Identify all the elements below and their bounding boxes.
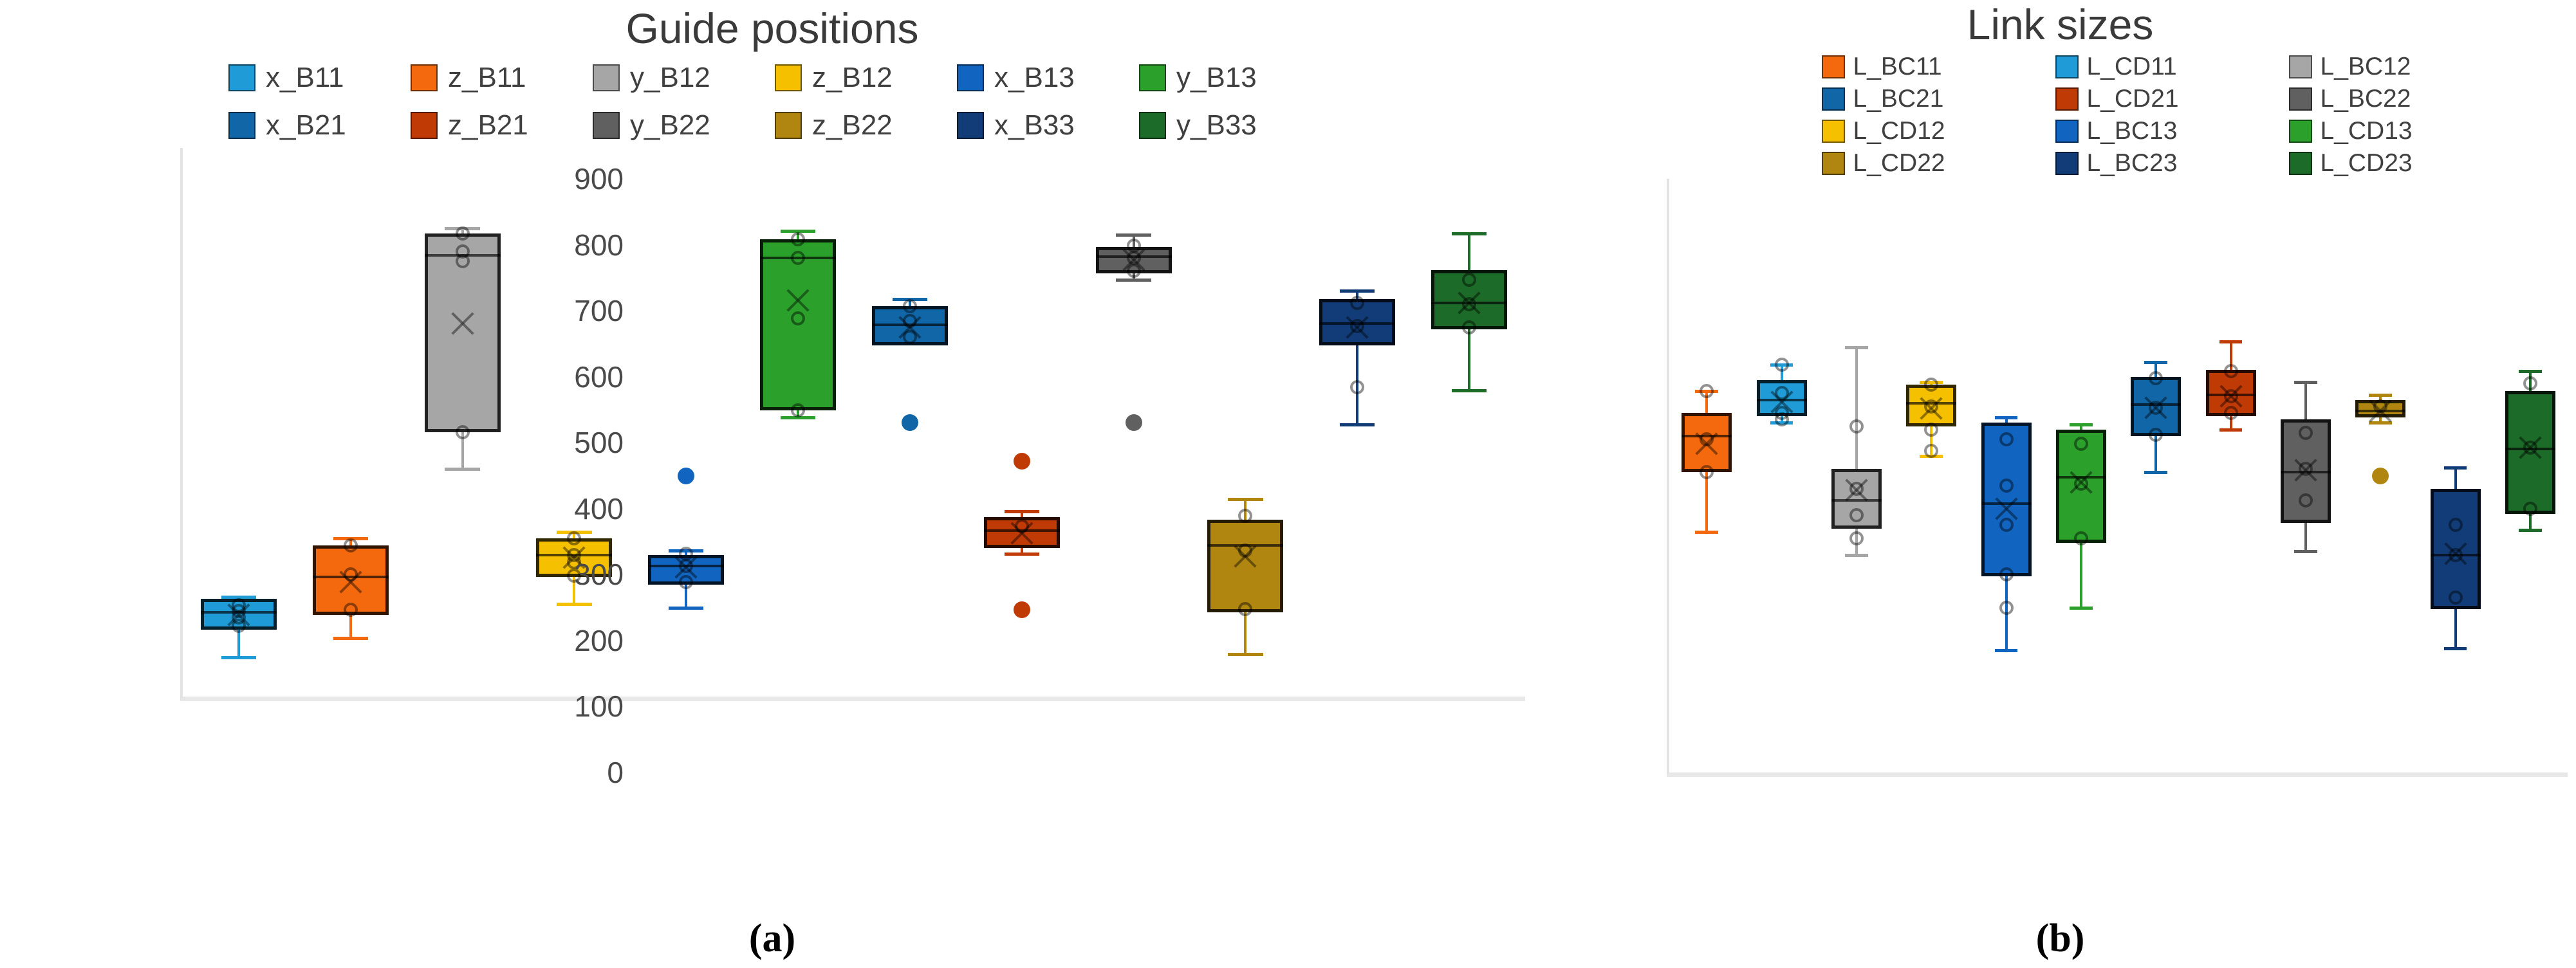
legend-swatch-icon: [2055, 120, 2079, 143]
panel-b-plot-area: [1667, 179, 2568, 777]
legend-swatch-icon: [957, 64, 984, 91]
data-point: [1700, 465, 1714, 479]
panel-b-caption-row: (b): [1544, 916, 2576, 962]
y-axis-tick-label: 800: [574, 228, 624, 262]
data-point: [344, 603, 358, 617]
legend-swatch-icon: [593, 112, 620, 139]
panel-a-plot-area: [180, 148, 1525, 701]
legend-item-l_bc21[interactable]: L_BC21: [1822, 85, 2055, 113]
legend-item-l_bc22[interactable]: L_BC22: [2289, 85, 2523, 113]
legend-item-l_cd12[interactable]: L_CD12: [1822, 117, 2055, 145]
cap-min: [2294, 550, 2317, 553]
cap-max: [1005, 510, 1039, 513]
data-point: [791, 403, 805, 417]
panel-b-legend: L_BC11L_CD11L_BC12L_BC21L_CD21L_BC22L_CD…: [1821, 53, 2523, 178]
legend-item-label: L_CD21: [2087, 85, 2179, 113]
y-axis-tick-label: 0: [607, 755, 624, 790]
box-plot-x_b11[interactable]: [201, 148, 277, 697]
panel-a-caption: (a): [749, 917, 795, 960]
data-point: [2149, 401, 2163, 415]
data-point: [232, 619, 246, 633]
legend-swatch-icon: [593, 64, 620, 91]
data-point: [2373, 399, 2387, 414]
legend-swatch-icon: [1822, 87, 1845, 111]
data-point: [679, 575, 693, 589]
legend-item-x_b13[interactable]: x_B13: [954, 62, 1136, 94]
box-plot-l_bc23[interactable]: [2431, 179, 2481, 772]
cap-max: [2070, 423, 2093, 426]
cap-min: [2219, 428, 2243, 432]
legend-item-z_b12[interactable]: z_B12: [772, 62, 954, 94]
cap-min: [2144, 471, 2167, 474]
legend-item-label: L_BC11: [1853, 53, 1942, 81]
legend-swatch-icon: [2055, 152, 2079, 175]
data-point: [2224, 406, 2238, 420]
whisker-upper: [2304, 382, 2307, 419]
box-plot-l_cd12[interactable]: [1906, 179, 1956, 772]
cap-max: [1452, 232, 1487, 235]
cap-max: [2294, 381, 2317, 384]
legend-swatch-icon: [2289, 87, 2312, 111]
legend-item-label: y_B12: [630, 62, 710, 94]
data-point: [1924, 378, 1938, 392]
legend-swatch-icon: [2289, 152, 2312, 175]
data-point: [1775, 386, 1789, 400]
box-plot-l_bc12[interactable]: [1831, 179, 1882, 772]
cap-min: [1695, 531, 1718, 534]
cap-min: [2070, 607, 2093, 610]
legend-item-label: x_B21: [266, 109, 346, 142]
data-point: [1462, 297, 1476, 311]
legend-item-z_b22[interactable]: z_B22: [772, 109, 954, 142]
y-axis-tick-label: 500: [574, 425, 624, 460]
cap-max: [1845, 346, 1868, 349]
cap-min: [1452, 389, 1487, 392]
box-plot-l_bc22[interactable]: [2281, 179, 2331, 772]
data-point: [1238, 543, 1252, 558]
box-plot-l_cd13[interactable]: [2056, 179, 2106, 772]
data-point: [456, 226, 470, 241]
cap-max: [2144, 361, 2167, 364]
legend-swatch-icon: [1822, 55, 1845, 78]
data-point: [1127, 251, 1141, 265]
data-point: [791, 251, 805, 265]
legend-item-label: z_B12: [812, 62, 893, 94]
legend-item-y_b13[interactable]: y_B13: [1136, 62, 1319, 94]
panel-a-legend: x_B11z_B11y_B12z_B12x_B13y_B13x_B21z_B21…: [225, 62, 1319, 142]
legend-item-label: L_CD12: [1853, 117, 1945, 145]
legend-item-l_cd13[interactable]: L_CD13: [2289, 117, 2523, 145]
legend-item-l_cd22[interactable]: L_CD22: [1822, 149, 2055, 178]
data-point: [1700, 384, 1714, 398]
cap-min: [1340, 423, 1375, 426]
data-point: [2149, 371, 2163, 385]
data-point: [1238, 602, 1252, 616]
legend-swatch-icon: [2289, 55, 2312, 78]
data-point: [1924, 399, 1938, 414]
panel-a-guide-positions: Guide positions x_B11z_B11y_B12z_B12x_B1…: [0, 0, 1544, 968]
panel-a-title: Guide positions: [0, 0, 1544, 53]
box-plot-l_cd22[interactable]: [2355, 179, 2405, 772]
whisker-lower: [2454, 609, 2457, 649]
data-point: [1849, 531, 1864, 545]
data-point: [1775, 358, 1789, 372]
data-point: [456, 425, 470, 439]
cap-min: [557, 603, 591, 606]
cap-min: [1845, 554, 1868, 557]
box-plot-z_b11[interactable]: [313, 148, 389, 697]
legend-swatch-icon: [1822, 152, 1845, 175]
y-axis-tick-label: 100: [574, 689, 624, 724]
legend-swatch-icon: [228, 112, 255, 139]
whisker-lower: [1468, 329, 1470, 390]
cap-min: [221, 656, 256, 659]
legend-swatch-icon: [2055, 87, 2079, 111]
legend-swatch-icon: [775, 64, 802, 91]
data-point: [1999, 479, 2014, 493]
whisker-upper: [1855, 347, 1858, 470]
data-point: [1999, 518, 2014, 532]
data-point: [1849, 419, 1864, 434]
legend-item-y_b33[interactable]: y_B33: [1136, 109, 1319, 142]
legend-item-label: z_B22: [812, 109, 893, 142]
legend-swatch-icon: [228, 64, 255, 91]
box-plot-l_bc13[interactable]: [1981, 179, 2032, 772]
legend-swatch-icon: [957, 112, 984, 139]
cap-max: [1228, 498, 1263, 501]
legend-swatch-icon: [411, 112, 438, 139]
legend-item-label: y_B33: [1176, 109, 1257, 142]
data-point: [567, 531, 581, 545]
data-point: [1999, 601, 2014, 615]
y-axis-tick-label: 300: [574, 557, 624, 592]
legend-item-label: x_B33: [994, 109, 1075, 142]
data-point: [1127, 264, 1141, 278]
data-point: [1350, 296, 1364, 310]
data-point: [903, 314, 917, 328]
panel-b-title: Link sizes: [1544, 0, 2576, 49]
data-point: [1462, 273, 1476, 287]
cap-min: [1228, 653, 1263, 656]
mean-marker-icon: [783, 286, 813, 315]
outlier-point: [1014, 601, 1030, 618]
box-plot-y_b12[interactable]: [425, 148, 501, 697]
legend-item-label: L_CD11: [2087, 53, 2177, 81]
legend-item-label: z_B21: [448, 109, 528, 142]
legend-item-x_b33[interactable]: x_B33: [954, 109, 1136, 142]
panel-b-caption: (b): [2036, 917, 2085, 960]
data-point: [1350, 380, 1364, 394]
whisker-lower: [2304, 523, 2307, 551]
cap-min: [333, 637, 368, 640]
legend-item-label: y_B22: [630, 109, 710, 142]
data-point: [2449, 518, 2463, 532]
legend-item-label: y_B13: [1176, 62, 1257, 94]
cap-min: [2444, 647, 2467, 650]
legend-swatch-icon: [411, 64, 438, 91]
data-point: [1849, 482, 1864, 496]
whisker-lower: [2529, 514, 2532, 530]
mean-marker-icon: [448, 309, 477, 338]
whisker-upper: [1468, 233, 1470, 270]
data-point: [344, 538, 358, 552]
box-plot-z_b22[interactable]: [1207, 148, 1283, 697]
panel-b-link-sizes: Link sizes L_BC11L_CD11L_BC12L_BC21L_CD2…: [1544, 0, 2576, 968]
data-point: [2523, 376, 2537, 390]
legend-item-l_bc11[interactable]: L_BC11: [1822, 53, 2055, 81]
legend-swatch-icon: [1139, 64, 1166, 91]
legend-item-label: L_CD23: [2321, 149, 2413, 178]
outlier-point: [1014, 453, 1030, 470]
legend-item-label: z_B11: [448, 62, 526, 94]
legend-item-y_b12[interactable]: y_B12: [590, 62, 772, 94]
whisker-lower: [349, 615, 352, 638]
whisker-lower: [1244, 612, 1246, 653]
legend-item-l_cd21[interactable]: L_CD21: [2055, 85, 2289, 113]
y-axis-tick-label: 700: [574, 293, 624, 328]
data-point: [2074, 531, 2088, 545]
legend-item-label: L_CD13: [2321, 117, 2413, 145]
cap-max: [2519, 370, 2542, 373]
box-plot-x_b13[interactable]: [648, 148, 724, 697]
legend-item-label: L_BC23: [2087, 149, 2178, 178]
data-point: [903, 330, 917, 344]
data-point: [2074, 437, 2088, 451]
legend-item-l_cd23[interactable]: L_CD23: [2289, 149, 2523, 178]
cap-min: [669, 607, 703, 610]
y-axis-tick-label: 900: [574, 161, 624, 196]
box-plot-y_b13[interactable]: [760, 148, 836, 697]
data-point: [2449, 590, 2463, 605]
cap-min: [1005, 552, 1039, 556]
box-plot-l_cd21[interactable]: [2206, 179, 2256, 772]
legend-swatch-icon: [1139, 112, 1166, 139]
legend-item-label: x_B11: [266, 62, 344, 94]
data-point: [1015, 519, 1029, 533]
cap-max: [1995, 416, 2018, 419]
y-axis-tick-label: 600: [574, 360, 624, 394]
data-point: [1924, 444, 1938, 458]
box-plot-x_b21[interactable]: [872, 148, 948, 697]
legend-swatch-icon: [775, 112, 802, 139]
box-plot-z_b21[interactable]: [984, 148, 1060, 697]
legend-item-l_bc13[interactable]: L_BC13: [2055, 117, 2289, 145]
legend-item-label: L_BC22: [2321, 85, 2411, 113]
box-plot-y_b33[interactable]: [1431, 148, 1507, 697]
data-point: [1849, 508, 1864, 522]
data-point: [2449, 548, 2463, 562]
box-plot-x_b33[interactable]: [1319, 148, 1395, 697]
data-point: [2299, 462, 2313, 476]
legend-item-z_b11[interactable]: z_B11: [408, 62, 590, 94]
box-plot-l_cd11[interactable]: [1757, 179, 1807, 772]
box-plot-y_b22[interactable]: [1096, 148, 1172, 697]
whisker-lower: [2080, 543, 2082, 608]
legend-swatch-icon: [2289, 120, 2312, 143]
legend-item-z_b21[interactable]: z_B21: [408, 109, 590, 142]
data-point: [1924, 423, 1938, 437]
cap-max: [1340, 289, 1375, 293]
cap-min: [1116, 279, 1151, 282]
outlier-point: [902, 414, 918, 431]
data-point: [1775, 412, 1789, 426]
legend-swatch-icon: [2055, 55, 2079, 78]
outlier-point: [678, 468, 694, 484]
panel-b-plot-wrapper: 9008007006005004003002001000: [1544, 179, 2576, 809]
data-point: [2074, 477, 2088, 491]
panel-a-caption-row: (a): [0, 916, 1544, 962]
data-point: [2299, 426, 2313, 440]
legend-swatch-icon: [1822, 120, 1845, 143]
legend-item-label: L_CD22: [1853, 149, 1945, 178]
legend-item-label: L_BC12: [2321, 53, 2411, 81]
y-axis-tick-label: 400: [574, 491, 624, 526]
box-plot-l_bc21[interactable]: [2131, 179, 2181, 772]
whisker-lower: [1705, 472, 1708, 531]
panel-a-plot-wrapper: 25002000150010005000-500-1000-1500-2000: [0, 148, 1544, 727]
whisker-upper: [2454, 468, 2457, 489]
outlier-point: [2372, 468, 2389, 484]
figure-container: Guide positions x_B11z_B11y_B12z_B12x_B1…: [0, 0, 2576, 968]
box-plot-l_bc11[interactable]: [1682, 179, 1732, 772]
data-point: [1999, 432, 2014, 446]
legend-item-l_cd11[interactable]: L_CD11: [2055, 53, 2289, 81]
legend-item-x_b21[interactable]: x_B21: [226, 109, 408, 142]
legend-item-y_b22[interactable]: y_B22: [590, 109, 772, 142]
data-point: [2224, 364, 2238, 378]
data-point: [2149, 428, 2163, 442]
legend-item-l_bc12[interactable]: L_BC12: [2289, 53, 2523, 81]
legend-item-x_b11[interactable]: x_B11: [226, 62, 408, 94]
cap-max: [1116, 233, 1151, 237]
data-point: [1350, 319, 1364, 333]
data-point: [1999, 567, 2014, 581]
data-point: [456, 254, 470, 268]
whisker-lower: [237, 630, 240, 658]
box-plot-l_cd23[interactable]: [2505, 179, 2555, 772]
data-point: [2523, 502, 2537, 516]
cap-min: [2519, 529, 2542, 532]
legend-item-label: x_B13: [994, 62, 1075, 94]
outlier-point: [1126, 414, 1142, 431]
cap-max: [2444, 466, 2467, 470]
legend-item-l_bc23[interactable]: L_BC23: [2055, 149, 2289, 178]
data-point: [1462, 320, 1476, 334]
cap-max: [2219, 340, 2243, 343]
legend-item-label: L_BC13: [2087, 117, 2178, 145]
cap-min: [445, 468, 479, 471]
data-point: [2224, 389, 2238, 403]
legend-item-label: L_BC21: [1853, 85, 1944, 113]
y-axis-tick-label: 200: [574, 623, 624, 658]
cap-min: [1995, 649, 2018, 652]
